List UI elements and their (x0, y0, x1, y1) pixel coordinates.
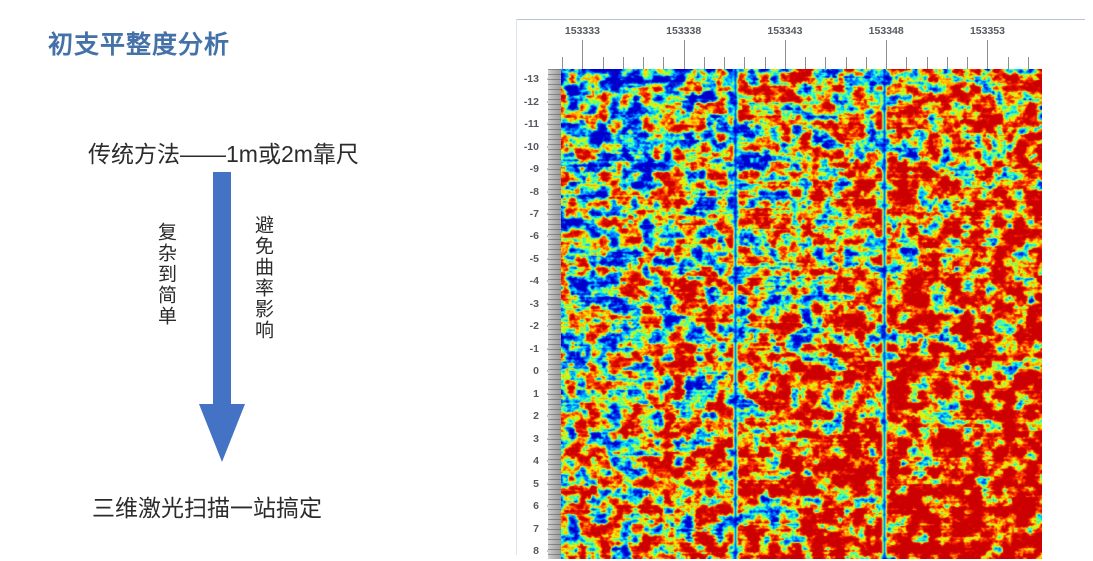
slide-left-panel: 初支平整度分析 传统方法——1m或2m靠尺 复杂到简单 避免曲率影响 三维激光扫… (0, 0, 470, 561)
flow-top-label: 传统方法——1m或2m靠尺 (88, 135, 359, 169)
x-axis-minor-tick (906, 57, 907, 69)
x-axis-minor-tick (967, 57, 968, 69)
x-axis-minor-tick (1028, 57, 1029, 69)
y-axis-tick-label: -2 (530, 320, 539, 332)
y-axis-tick-label: -11 (524, 118, 539, 130)
figure-border (516, 19, 1085, 24)
heatmap-figure: 153333153338153343153348153353 -13-12-11… (484, 11, 1084, 556)
y-axis-tick-label: -8 (530, 186, 539, 198)
y-axis-tick-label: -13 (524, 73, 539, 85)
x-axis-tick (785, 40, 786, 69)
x-axis-minor-tick (704, 57, 705, 69)
y-axis-tick-label: 3 (533, 433, 539, 445)
y-axis-tick-label: -4 (530, 275, 539, 287)
x-axis-minor-tick (846, 57, 847, 69)
x-axis-tick (987, 40, 988, 69)
x-axis-minor-tick (1008, 57, 1009, 69)
x-axis-minor-tick (927, 57, 928, 69)
x-axis-tick (886, 40, 887, 69)
x-axis-tick-label: 153338 (666, 25, 701, 37)
x-axis-tick-label: 153343 (767, 25, 802, 37)
x-axis-minor-tick (866, 57, 867, 69)
x-axis-tick-label: 153348 (869, 25, 904, 37)
x-axis-minor-tick (825, 57, 826, 69)
x-axis-minor-tick (623, 57, 624, 69)
vertical-scale-strip (548, 69, 562, 559)
y-axis-tick-label: 7 (533, 523, 539, 535)
x-axis-tick-label: 153333 (565, 25, 600, 37)
y-axis-tick-label: -9 (530, 163, 539, 175)
x-axis: 153333153338153343153348153353 (548, 25, 1030, 69)
x-axis-minor-tick (562, 57, 563, 69)
y-axis-tick-label: -10 (524, 141, 539, 153)
x-axis-minor-tick (663, 57, 664, 69)
y-axis-tick-label: 4 (533, 455, 539, 467)
x-axis-tick (684, 40, 685, 69)
y-axis-tick-label: -5 (530, 253, 539, 265)
y-axis-tick-label: -7 (530, 208, 539, 220)
y-axis-tick-label: 0 (533, 365, 539, 377)
y-axis-tick-label: -1 (530, 343, 539, 355)
x-axis-minor-tick (744, 57, 745, 69)
x-axis-minor-tick (765, 57, 766, 69)
flow-bottom-label: 三维激光扫描一站搞定 (92, 489, 322, 523)
y-axis-tick-label: 8 (533, 545, 539, 557)
y-axis-tick-label: 6 (533, 500, 539, 512)
x-axis-minor-tick (643, 57, 644, 69)
y-axis-tick-label: -6 (530, 230, 539, 242)
y-axis-tick-label: 5 (533, 478, 539, 490)
y-axis-tick-label: 1 (533, 388, 539, 400)
x-axis-minor-tick (724, 57, 725, 69)
down-arrow-icon (194, 172, 250, 462)
y-axis-tick-label: -12 (524, 96, 539, 108)
flow-right-vertical-label: 避免曲率影响 (253, 215, 272, 341)
x-axis-minor-tick (805, 57, 806, 69)
y-axis-tick-label: -3 (530, 298, 539, 310)
x-axis-minor-tick (603, 57, 604, 69)
page-title: 初支平整度分析 (48, 25, 230, 61)
flow-left-vertical-label: 复杂到简单 (156, 222, 175, 327)
x-axis-tick (582, 40, 583, 69)
heatmap-canvas[interactable] (561, 69, 1042, 559)
heatmap-plot-area[interactable] (561, 69, 1042, 559)
x-axis-tick-label: 153353 (970, 25, 1005, 37)
y-axis-tick-label: 2 (533, 410, 539, 422)
x-axis-minor-tick (947, 57, 948, 69)
